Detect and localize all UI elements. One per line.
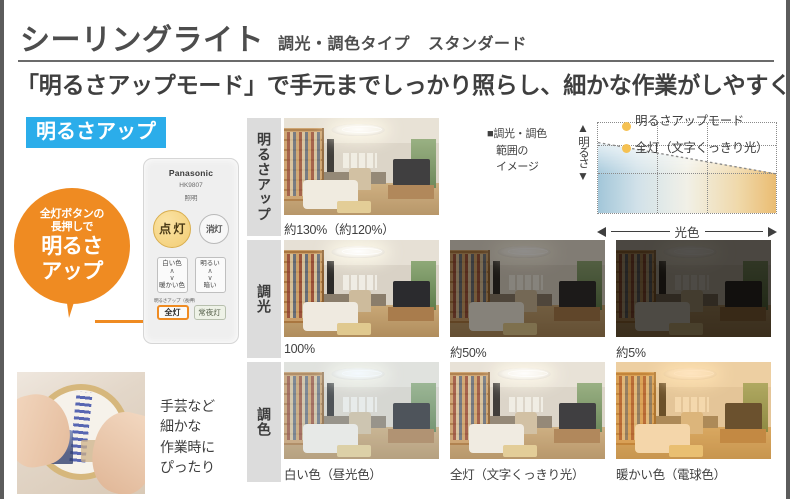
room-photo-dim-5 — [616, 240, 771, 337]
page-subtitle: 調光・調色タイプ — [278, 30, 410, 56]
caption-dim-2: 約5% — [616, 342, 646, 361]
rocker-color-bottom-label: 暖かい色 — [158, 282, 187, 290]
chevron-up-icon: ∧ — [158, 268, 187, 275]
page-grade: スタンダード — [428, 30, 527, 56]
caption-dim-0: 100% — [284, 342, 315, 356]
room-scene — [284, 118, 439, 215]
row-label-brightness-up: 明るさアップ — [247, 118, 281, 236]
chart-annotation-0: 明るさアップモード — [635, 110, 744, 129]
callout-connector-line — [95, 320, 143, 323]
chart-y-axis: ▲ 明るさ ▼ — [573, 122, 593, 226]
left-border — [0, 0, 4, 499]
chart-plot-area — [597, 122, 777, 214]
callout-line-3: 明るさ — [41, 235, 103, 259]
embroidery-caption: 手芸など 細かな 作業時に ぴったり — [160, 396, 240, 477]
page-header: シーリングライト 調光・調色タイプ スタンダード — [20, 16, 772, 56]
callout-line-1: 全灯ボタンの — [40, 208, 104, 221]
chevron-up-icon-2: ∧ — [196, 268, 225, 275]
remote-hint-label: 明るさアップ（長押） — [154, 298, 238, 304]
remote-button-night-light[interactable]: 常夜灯 — [194, 305, 226, 320]
status-badge-brightness-up: 明るさアップ — [26, 117, 166, 148]
chevron-down-icon: ∨ — [158, 275, 187, 282]
x-axis-line-left — [611, 231, 670, 233]
rocker-bright-top-label: 明るい — [196, 260, 225, 268]
remote-button-off[interactable]: 消灯 — [199, 214, 229, 244]
embroidery-photo — [17, 372, 145, 494]
arrow-up-icon: ▲ — [577, 122, 589, 134]
remote-button-all-light[interactable]: 全灯 — [157, 305, 189, 320]
chart-x-axis-label: 光色 — [675, 222, 700, 241]
remote-brand-logo: Panasonic — [144, 168, 238, 178]
remote-bottom-row: 全灯 常夜灯 — [144, 305, 238, 320]
remote-button-on[interactable]: 点 灯 — [153, 210, 191, 248]
room-photo-dim-100 — [284, 240, 439, 337]
range-image-chart: ■調光・調色 範囲の イメージ ▲ 明るさ ▼ 明るさアップモード 全灯（文字く… — [487, 112, 777, 242]
arrow-down-icon: ▼ — [577, 170, 589, 182]
row-label-dimming: 調光 — [247, 240, 281, 358]
x-axis-line-right — [705, 231, 764, 233]
craft-caption-line-3: 作業時に — [160, 437, 240, 457]
chart-title-line-3: イメージ — [496, 159, 561, 176]
chart-marker-brightness-up — [622, 122, 631, 131]
chart-title-block: ■調光・調色 範囲の イメージ — [487, 126, 561, 176]
page-title: シーリングライト — [20, 26, 264, 56]
page-root: シーリングライト 調光・調色タイプ スタンダード 「明るさアップモード」で手元ま… — [0, 0, 790, 499]
callout-line-2: 長押しで — [51, 221, 93, 234]
chart-marker-all-light — [622, 144, 631, 153]
row-label-text-1: 調光 — [254, 284, 274, 314]
remote-rocker-row: 白い色 ∧ ∨ 暖かい色 明るい ∧ ∨ 暗い — [144, 257, 238, 293]
chart-x-axis: 光色 — [597, 222, 777, 241]
room-photo-color-daylight — [284, 362, 439, 459]
caption-brightness-up-0: 約130%（約120%） — [284, 219, 394, 238]
row-label-color-tuning: 調色 — [247, 362, 281, 482]
remote-power-row: 点 灯 消灯 — [144, 210, 238, 248]
remote-control: Panasonic HK9807 照明 点 灯 消灯 白い色 ∧ ∨ 暖かい色 … — [143, 158, 239, 344]
remote-rocker-brightness[interactable]: 明るい ∧ ∨ 暗い — [195, 257, 226, 293]
chart-annotation-1: 全灯（文字くっきり光） — [635, 137, 768, 156]
craft-caption-line-4: ぴったり — [160, 457, 240, 477]
craft-caption-line-1: 手芸など — [160, 396, 240, 416]
rocker-color-top-label: 白い色 — [158, 260, 187, 268]
row-label-text-0: 明るさアップ — [254, 132, 274, 222]
callout-line-4: アップ — [41, 260, 103, 284]
craft-caption-line-2: 細かな — [160, 416, 240, 436]
room-photo-dim-50 — [450, 240, 605, 337]
caption-color-2: 暖かい色（電球色） — [616, 464, 726, 483]
callout-bubble: 全灯ボタンの 長押しで 明るさ アップ — [14, 188, 130, 304]
arrow-left-icon — [597, 227, 606, 237]
chevron-down-icon-2: ∨ — [196, 275, 225, 282]
caption-dim-1: 約50% — [450, 342, 486, 361]
room-photo-brightness-up — [284, 118, 439, 215]
remote-model-subtitle: 照明 — [144, 195, 238, 204]
rocker-bright-bottom-label: 暗い — [196, 282, 225, 290]
remote-rocker-color[interactable]: 白い色 ∧ ∨ 暖かい色 — [157, 257, 188, 293]
chart-y-axis-label: 明るさ — [575, 136, 591, 168]
room-photo-color-allwhite — [450, 362, 605, 459]
header-divider — [18, 60, 774, 62]
caption-color-0: 白い色（昼光色） — [284, 464, 382, 483]
chart-title-line-2: 範囲の — [496, 143, 561, 160]
chart-title-line-1: ■調光・調色 — [487, 126, 561, 143]
remote-model-number: HK9807 — [144, 182, 238, 191]
caption-color-1: 全灯（文字くっきり光） — [450, 464, 584, 483]
row-label-text-2: 調色 — [254, 407, 274, 437]
arrow-right-icon — [768, 227, 777, 237]
room-photo-color-warm — [616, 362, 771, 459]
lead-text: 「明るさアップモード」で手元までしっかり照らし、細かな作業がしやすく — [16, 66, 776, 100]
